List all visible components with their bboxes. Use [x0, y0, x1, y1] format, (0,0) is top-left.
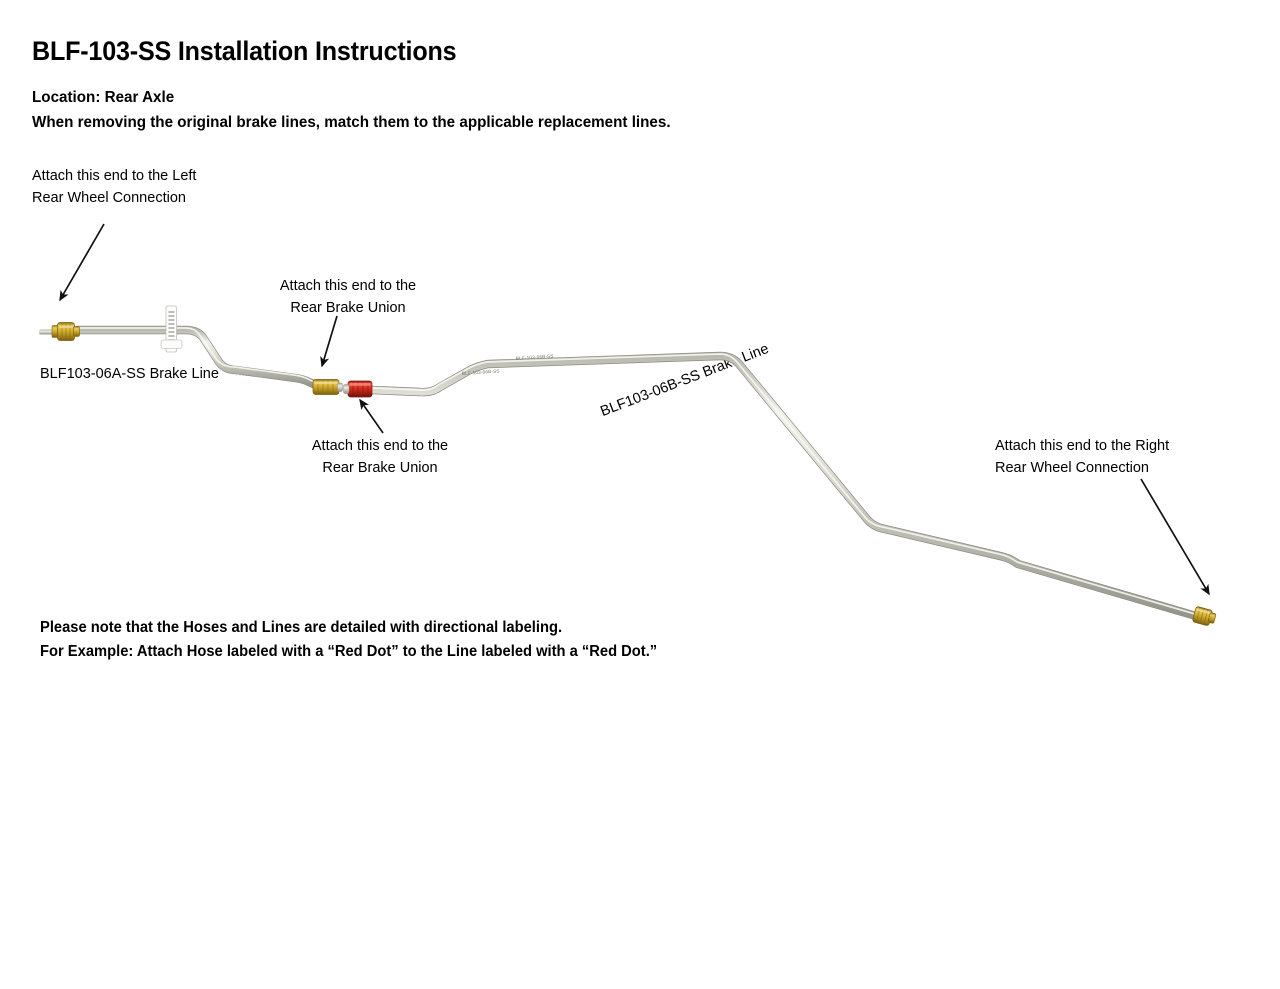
id-tag-line-a [161, 306, 182, 352]
callout-union-upper-line2: Rear Brake Union [241, 297, 455, 319]
arrow-union-upper [322, 316, 337, 366]
callout-union-upper: Attach this end to the Rear Brake Union [241, 275, 455, 319]
footer-note-line1: Please note that the Hoses and Lines are… [40, 619, 562, 637]
instruction-sheet-page: BLF-103-SS Installation Instructions Loc… [0, 0, 1280, 989]
callout-union-upper-line1: Attach this end to the [241, 275, 455, 297]
fitting-a-union [313, 380, 343, 395]
micro-print-line-a: · · · · · [236, 373, 251, 378]
callout-left-wheel-line1: Attach this end to the Left [32, 165, 196, 187]
instruction-line: When removing the original brake lines, … [32, 114, 671, 132]
micro-print-line-b-1: BLF-103-06B-SS [462, 368, 500, 376]
fitting-b-union [344, 381, 373, 397]
micro-print-line-b-2: BLF-103-06B-SS [516, 353, 554, 361]
page-title: BLF-103-SS Installation Instructions [32, 36, 456, 67]
callout-right-wheel-line2: Rear Wheel Connection [995, 457, 1169, 479]
brake-line-diagram: · · · · · [0, 0, 1280, 989]
part-label-line-a: BLF103-06A-SS Brake Line [40, 366, 219, 382]
brake-line-b-assembly: BLF-103-06B-SS BLF-103-06B-SS [344, 353, 1217, 626]
callout-union-lower: Attach this end to the Rear Brake Union [273, 435, 487, 479]
part-label-line-b: BLF103-06B-SS Brake Line [598, 341, 771, 420]
arrow-right-wheel [1141, 479, 1209, 594]
callout-left-wheel: Attach this end to the Left Rear Wheel C… [32, 165, 196, 209]
callout-right-wheel-line1: Attach this end to the Right [995, 435, 1169, 457]
footer-note-line2: For Example: Attach Hose labeled with a … [40, 643, 657, 661]
fitting-left-end [39, 323, 80, 341]
arrow-left-wheel [60, 224, 104, 300]
location-line: Location: Rear Axle [32, 89, 174, 107]
brake-line-b-tube [372, 354, 1196, 616]
arrow-union-lower [360, 400, 383, 433]
callout-left-wheel-line2: Rear Wheel Connection [32, 187, 196, 209]
callout-union-lower-line1: Attach this end to the [273, 435, 487, 457]
callout-arrows [60, 224, 1209, 594]
callout-right-wheel: Attach this end to the Right Rear Wheel … [995, 435, 1169, 479]
callout-union-lower-line2: Rear Brake Union [273, 457, 487, 479]
fitting-right-end [1192, 606, 1216, 626]
